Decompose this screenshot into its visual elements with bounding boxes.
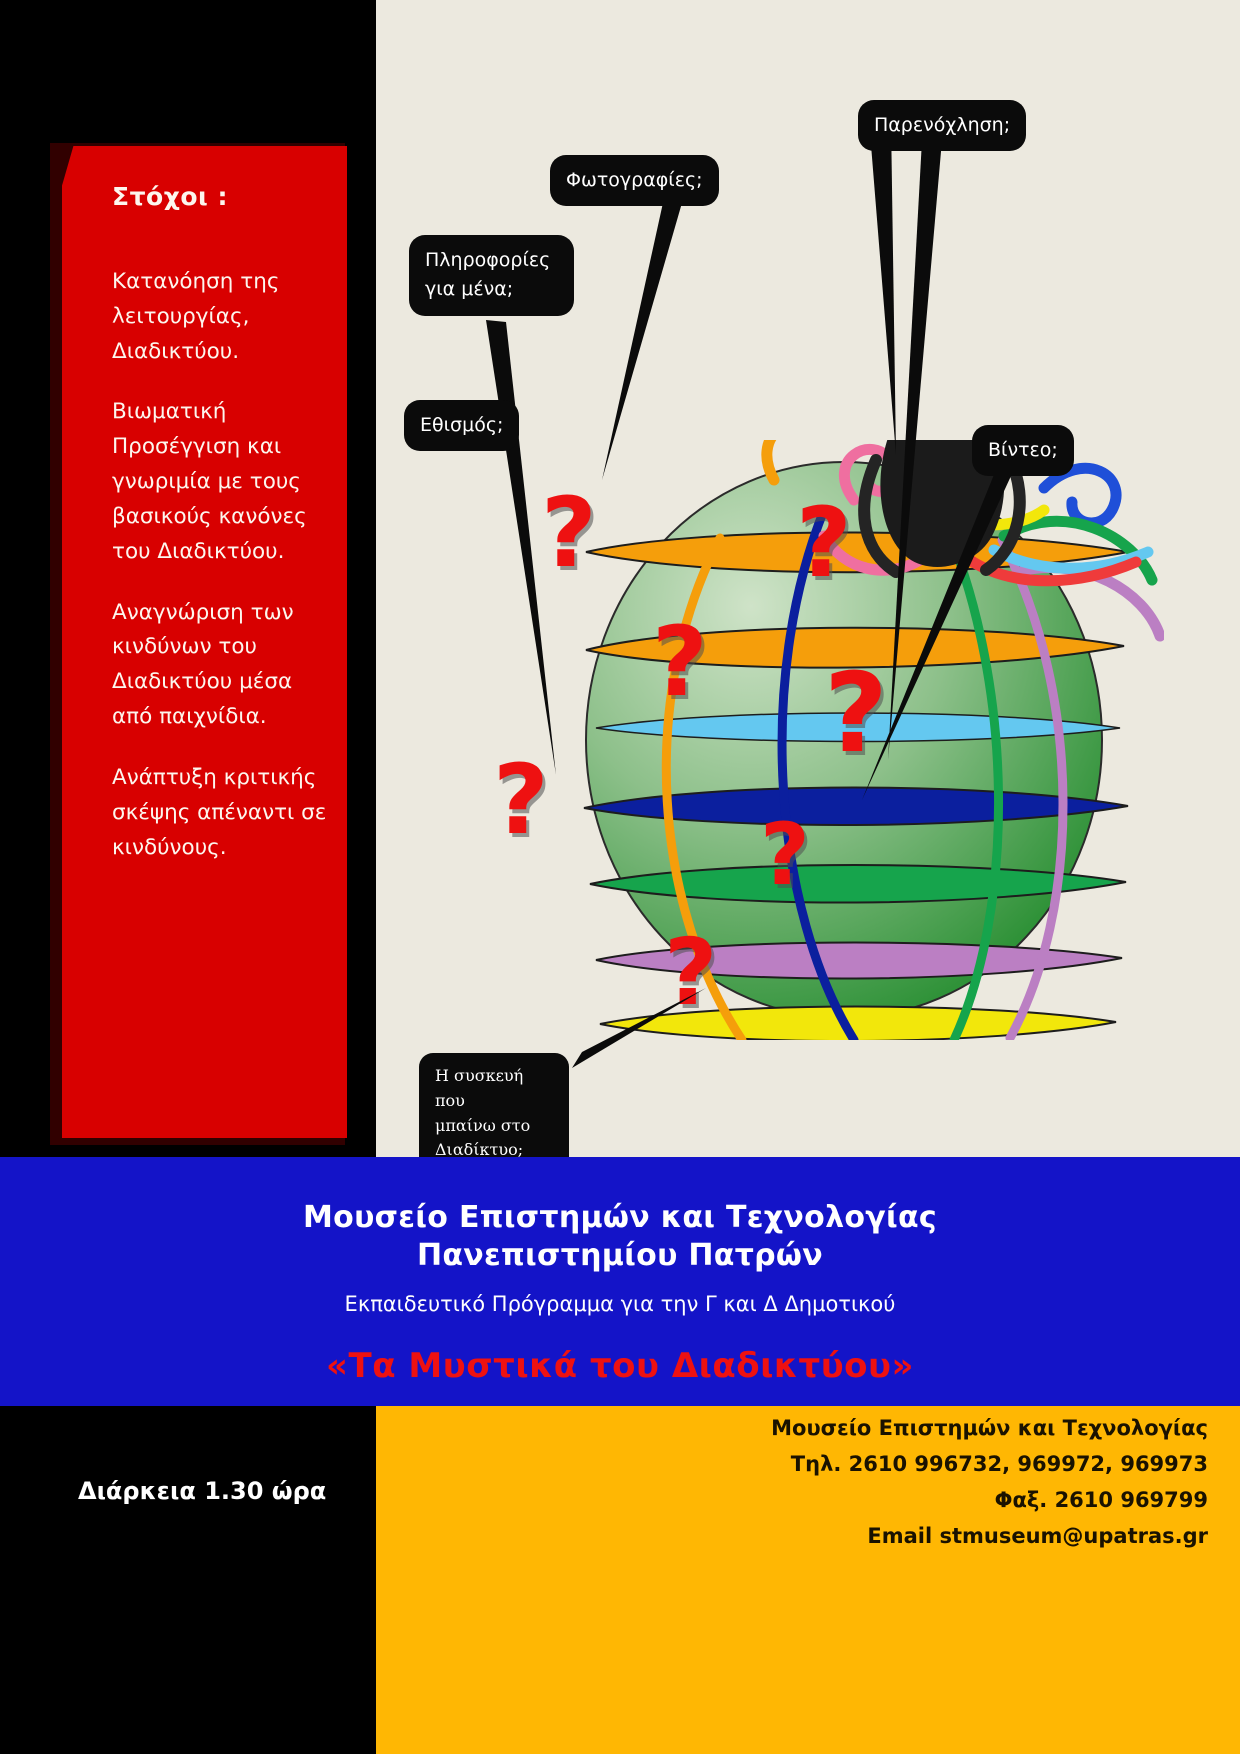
- objective-item: Ανάπτυξη κριτικής σκέψης απέναντι σε κιν…: [112, 761, 332, 865]
- duration-text: Διάρκεια 1.30 ώρα: [78, 1477, 326, 1505]
- contact-line-email[interactable]: Email stmuseum@upatras.gr: [488, 1518, 1208, 1554]
- objective-item: Βιωματική Προσέγγιση και γνωριμία με του…: [112, 395, 332, 569]
- bubble-harassment[interactable]: Παρενόχληση;: [858, 100, 1026, 151]
- program-title: «Τα Μυστικά του Διαδικτύου»: [0, 1346, 1240, 1386]
- illustration-panel: ? ? ? ? ? ? ? Παρενόχληση; Φωτογραφίες; …: [376, 0, 1240, 1157]
- bubble-addiction[interactable]: Εθισμός;: [404, 400, 519, 451]
- organization-line-2: Πανεπιστημίου Πατρών: [0, 1237, 1240, 1275]
- organization-line-1: Μουσείο Επιστημών και Τεχνολογίας: [0, 1199, 1240, 1237]
- objectives-content: Στόχοι : Κατανόηση της λειτουργίας, Διαδ…: [112, 182, 332, 891]
- organization-band: Μουσείο Επιστημών και Τεχνολογίας Πανεπι…: [0, 1157, 1240, 1406]
- duration-panel: [0, 1406, 376, 1754]
- bubble-pointers: [376, 0, 1240, 1157]
- objective-item: Αναγνώριση των κινδύνων του Διαδικτύου μ…: [112, 596, 332, 735]
- organization-name: Μουσείο Επιστημών και Τεχνολογίας Πανεπι…: [0, 1157, 1240, 1276]
- bubble-video[interactable]: Βίντεο;: [972, 425, 1074, 476]
- bubble-photos[interactable]: Φωτογραφίες;: [550, 155, 719, 206]
- program-subtitle: Εκπαιδευτικό Πρόγραμμα για την Γ και Δ Δ…: [0, 1292, 1240, 1316]
- poster-root: ? ? ? ? ? ? ? Παρενόχληση; Φωτογραφίες; …: [0, 0, 1240, 1754]
- contact-line-museum: Μουσείο Επιστημών και Τεχνολογίας: [488, 1410, 1208, 1446]
- contact-line-phone: Τηλ. 2610 996732, 969972, 969973: [488, 1446, 1208, 1482]
- objective-item: Κατανόηση της λειτουργίας, Διαδικτύου.: [112, 265, 332, 369]
- contact-line-fax: Φαξ. 2610 969799: [488, 1482, 1208, 1518]
- contact-details: Μουσείο Επιστημών και Τεχνολογίας Τηλ. 2…: [488, 1410, 1208, 1554]
- bubble-info-about-me[interactable]: Πληροφορίες για μένα;: [409, 235, 574, 316]
- bubble-device[interactable]: Η συσκευή που μπαίνω στο Διαδίκτυο;: [419, 1053, 569, 1157]
- objectives-title: Στόχοι :: [112, 182, 332, 211]
